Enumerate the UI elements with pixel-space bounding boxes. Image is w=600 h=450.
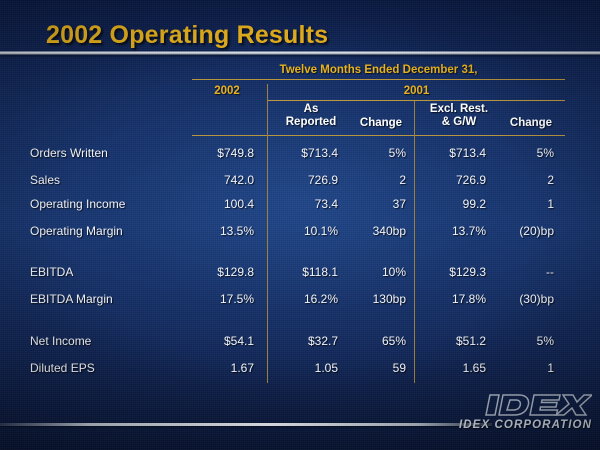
cell-ebitda-margin-as-reported: 16.2% <box>268 292 338 306</box>
row-label-orders-written: Orders Written <box>30 146 108 160</box>
cell-sales-change-2: 2 <box>492 173 554 187</box>
cell-orders-written-2002: $749.8 <box>182 146 254 160</box>
rule-under-year-2001 <box>268 100 565 101</box>
row-label-net-income: Net Income <box>30 334 91 348</box>
cell-ebitda-excl: $129.3 <box>416 265 486 279</box>
column-header-change-1: Change <box>352 117 410 130</box>
cell-diluted-eps-change-1: 59 <box>344 361 406 375</box>
row-label-operating-income: Operating Income <box>30 197 125 211</box>
cell-ebitda-margin-excl: 17.8% <box>416 292 486 306</box>
column-header-as-reported-line1: As <box>304 103 319 115</box>
column-header-excl-rest-gw: Excl. Rest. & G/W <box>420 103 498 129</box>
cell-diluted-eps-2002: 1.67 <box>182 361 254 375</box>
brand-logo: IDEX CORPORATION <box>459 392 592 431</box>
cell-operating-margin-as-reported: 10.1% <box>268 224 338 238</box>
row-label-sales: Sales <box>30 173 60 187</box>
cell-net-income-excl: $51.2 <box>416 334 486 348</box>
cell-operating-income-change-1: 37 <box>344 197 406 211</box>
row-label-diluted-eps: Diluted EPS <box>30 361 95 375</box>
cell-operating-margin-change-1: 340bp <box>344 224 406 238</box>
cell-net-income-2002: $54.1 <box>182 334 254 348</box>
idex-logo-icon <box>484 392 592 418</box>
cell-diluted-eps-excl: 1.65 <box>416 361 486 375</box>
operating-results-table: Twelve Months Ended December 31, 2002 20… <box>0 0 600 450</box>
cell-sales-change-1: 2 <box>344 173 406 187</box>
footer-divider <box>0 423 492 426</box>
row-label-operating-margin: Operating Margin <box>30 224 123 238</box>
cell-sales-excl: 726.9 <box>416 173 486 187</box>
cell-operating-margin-change-2: (20)bp <box>492 224 554 238</box>
row-label-ebitda-margin: EBITDA Margin <box>30 292 113 306</box>
cell-ebitda-margin-2002: 17.5% <box>182 292 254 306</box>
cell-diluted-eps-change-2: 1 <box>492 361 554 375</box>
cell-orders-written-excl: $713.4 <box>416 146 486 160</box>
cell-net-income-change-1: 65% <box>344 334 406 348</box>
cell-operating-income-as-reported: 73.4 <box>268 197 338 211</box>
column-header-as-reported-line2: Reported <box>286 116 336 128</box>
table-super-header: Twelve Months Ended December 31, <box>192 64 565 76</box>
cell-net-income-change-2: 5% <box>492 334 554 348</box>
cell-ebitda-margin-change-1: 130bp <box>344 292 406 306</box>
cell-diluted-eps-as-reported: 1.05 <box>268 361 338 375</box>
brand-name: IDEX CORPORATION <box>459 419 592 431</box>
column-header-excl-rest-gw-line1: Excl. Rest. <box>430 103 488 115</box>
cell-net-income-as-reported: $32.7 <box>268 334 338 348</box>
header-year-2002: 2002 <box>192 85 262 97</box>
cell-operating-income-change-2: 1 <box>492 197 554 211</box>
header-year-2001: 2001 <box>268 85 565 97</box>
column-header-change-1-label: Change <box>360 117 402 129</box>
row-label-ebitda: EBITDA <box>30 265 73 279</box>
cell-operating-income-2002: 100.4 <box>182 197 254 211</box>
cell-operating-margin-excl: 13.7% <box>416 224 486 238</box>
divider-col-excl <box>414 101 415 383</box>
cell-ebitda-change-1: 10% <box>344 265 406 279</box>
cell-operating-margin-2002: 13.5% <box>182 224 254 238</box>
column-header-change-2: Change <box>500 117 562 130</box>
cell-orders-written-change-1: 5% <box>344 146 406 160</box>
cell-ebitda-margin-change-2: (30)bp <box>492 292 554 306</box>
cell-ebitda-change-2: -- <box>492 265 554 279</box>
column-header-as-reported: As Reported <box>272 103 350 129</box>
cell-ebitda-2002: $129.8 <box>182 265 254 279</box>
column-header-excl-rest-gw-line2: & G/W <box>442 116 477 128</box>
slide-canvas: 2002 Operating Results Twelve Months End… <box>0 0 600 450</box>
cell-orders-written-change-2: 5% <box>492 146 554 160</box>
cell-sales-2002: 742.0 <box>182 173 254 187</box>
column-header-change-2-label: Change <box>510 117 552 129</box>
cell-orders-written-as-reported: $713.4 <box>268 146 338 160</box>
cell-ebitda-as-reported: $118.1 <box>268 265 338 279</box>
rule-under-column-headers <box>192 135 565 136</box>
rule-under-super-header <box>192 79 565 80</box>
cell-sales-as-reported: 726.9 <box>268 173 338 187</box>
cell-operating-income-excl: 99.2 <box>416 197 486 211</box>
